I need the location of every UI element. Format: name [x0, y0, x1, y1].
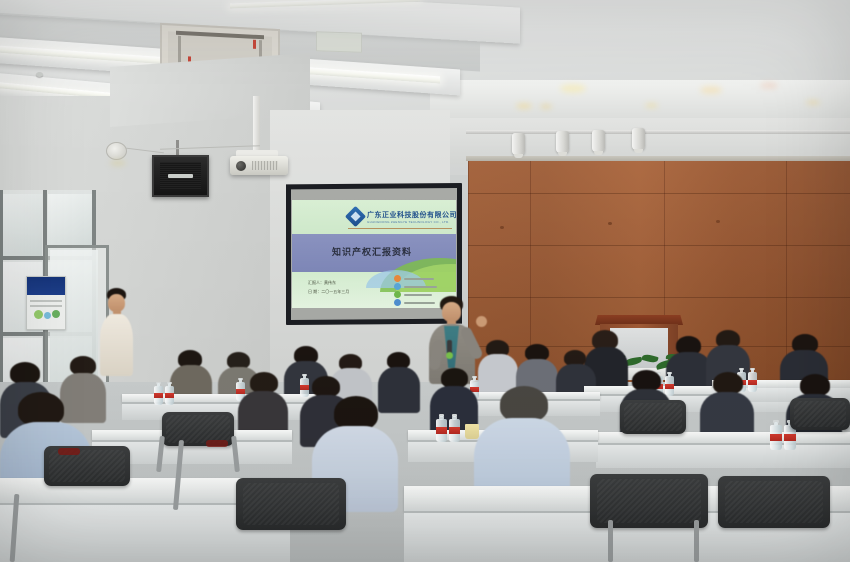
audience-member — [238, 372, 288, 436]
audience-hair — [10, 362, 40, 384]
logo-divider — [348, 228, 452, 229]
chair-frame — [608, 520, 614, 562]
mesh-back-chair[interactable] — [620, 400, 686, 434]
water-bottle — [165, 382, 174, 405]
audience-hair — [632, 370, 661, 391]
ceiling-access-panel — [316, 31, 362, 53]
mesh-back-chair[interactable] — [718, 476, 830, 528]
slide-title: 知识产权汇报资料 — [332, 245, 412, 258]
presenter-hand — [476, 316, 487, 327]
company-name-cn: 广东正业科技股份有限公司 — [367, 210, 456, 220]
mesh-back-chair[interactable] — [790, 398, 850, 430]
smoke-detector — [36, 72, 43, 77]
water-bottle — [449, 414, 460, 442]
wall-stain — [110, 160, 126, 166]
slide-date-line: 日 期：二〇一五年三月 — [308, 289, 349, 295]
track-spotlight — [556, 131, 569, 153]
panel-fixing — [608, 222, 612, 225]
wall-exhaust-fan — [106, 142, 127, 160]
audience-hair — [713, 372, 743, 394]
presenter-head — [442, 302, 461, 322]
glass-pane — [2, 194, 42, 256]
presentation-slide: 广东正业科技股份有限公司 GUANGDONG ZHENGYE TECHNOLOG… — [292, 200, 456, 308]
audience-hair — [250, 372, 278, 393]
conference-room-photo: 广东正业科技股份有限公司 GUANGDONG ZHENGYE TECHNOLOG… — [0, 0, 850, 562]
slide-bullet-dot — [394, 275, 401, 282]
light-reflection — [540, 104, 552, 109]
ceiling-projector — [230, 156, 288, 175]
track-spotlight — [592, 130, 605, 152]
light-reflection — [516, 103, 532, 109]
light-reflection — [760, 82, 778, 89]
audience-hair — [334, 396, 378, 430]
chair-armrest-accent — [206, 440, 228, 447]
slide-bullet-dot — [394, 291, 401, 298]
chair-armrest-accent — [58, 448, 80, 455]
mesh-back-chair[interactable] — [44, 446, 130, 486]
slide-bullet-item — [394, 283, 437, 290]
audience-hair — [18, 392, 64, 426]
training-desk — [596, 432, 850, 468]
water-bottle — [436, 414, 447, 442]
track-spotlight — [512, 133, 525, 155]
microphone-head — [446, 352, 453, 359]
chair-frame — [694, 520, 700, 562]
mesh-back-chair[interactable] — [236, 478, 346, 530]
projector-mount-pole — [253, 96, 260, 152]
chair-frame — [176, 440, 182, 510]
water-bottle — [770, 420, 782, 450]
company-name-en: GUANGDONG ZHENGYE TECHNOLOGY CO., LTD. — [367, 220, 450, 224]
slide-bullet-text — [404, 286, 437, 288]
audience-hair — [800, 374, 830, 396]
audience-hair — [500, 386, 548, 422]
wall-notice-poster — [26, 276, 66, 330]
light-reflection — [645, 103, 658, 108]
slide-bullet-text — [404, 278, 434, 280]
company-logo-icon — [348, 209, 363, 224]
ceiling-soffit — [430, 80, 850, 122]
slide-bullet-dot — [394, 299, 401, 306]
wood-wall-top-trim — [466, 156, 850, 161]
wall-mounted-loudspeaker — [152, 155, 209, 197]
panel-fixing — [500, 226, 504, 229]
audience-member — [700, 372, 754, 438]
panel-fixing — [716, 220, 720, 223]
slide-bullet-dot — [394, 283, 401, 290]
chair-frame — [12, 494, 18, 562]
light-reflection — [700, 86, 722, 94]
audience-hair — [441, 368, 468, 388]
slide-presenter-line: 汇报人：黄伟东 — [308, 280, 336, 286]
audience-hair — [312, 376, 340, 397]
light-reflection — [560, 84, 586, 93]
light-reflection — [806, 100, 820, 105]
slide-bullet-item — [394, 275, 434, 282]
water-bottle — [154, 382, 163, 405]
track-spotlight — [632, 128, 645, 150]
